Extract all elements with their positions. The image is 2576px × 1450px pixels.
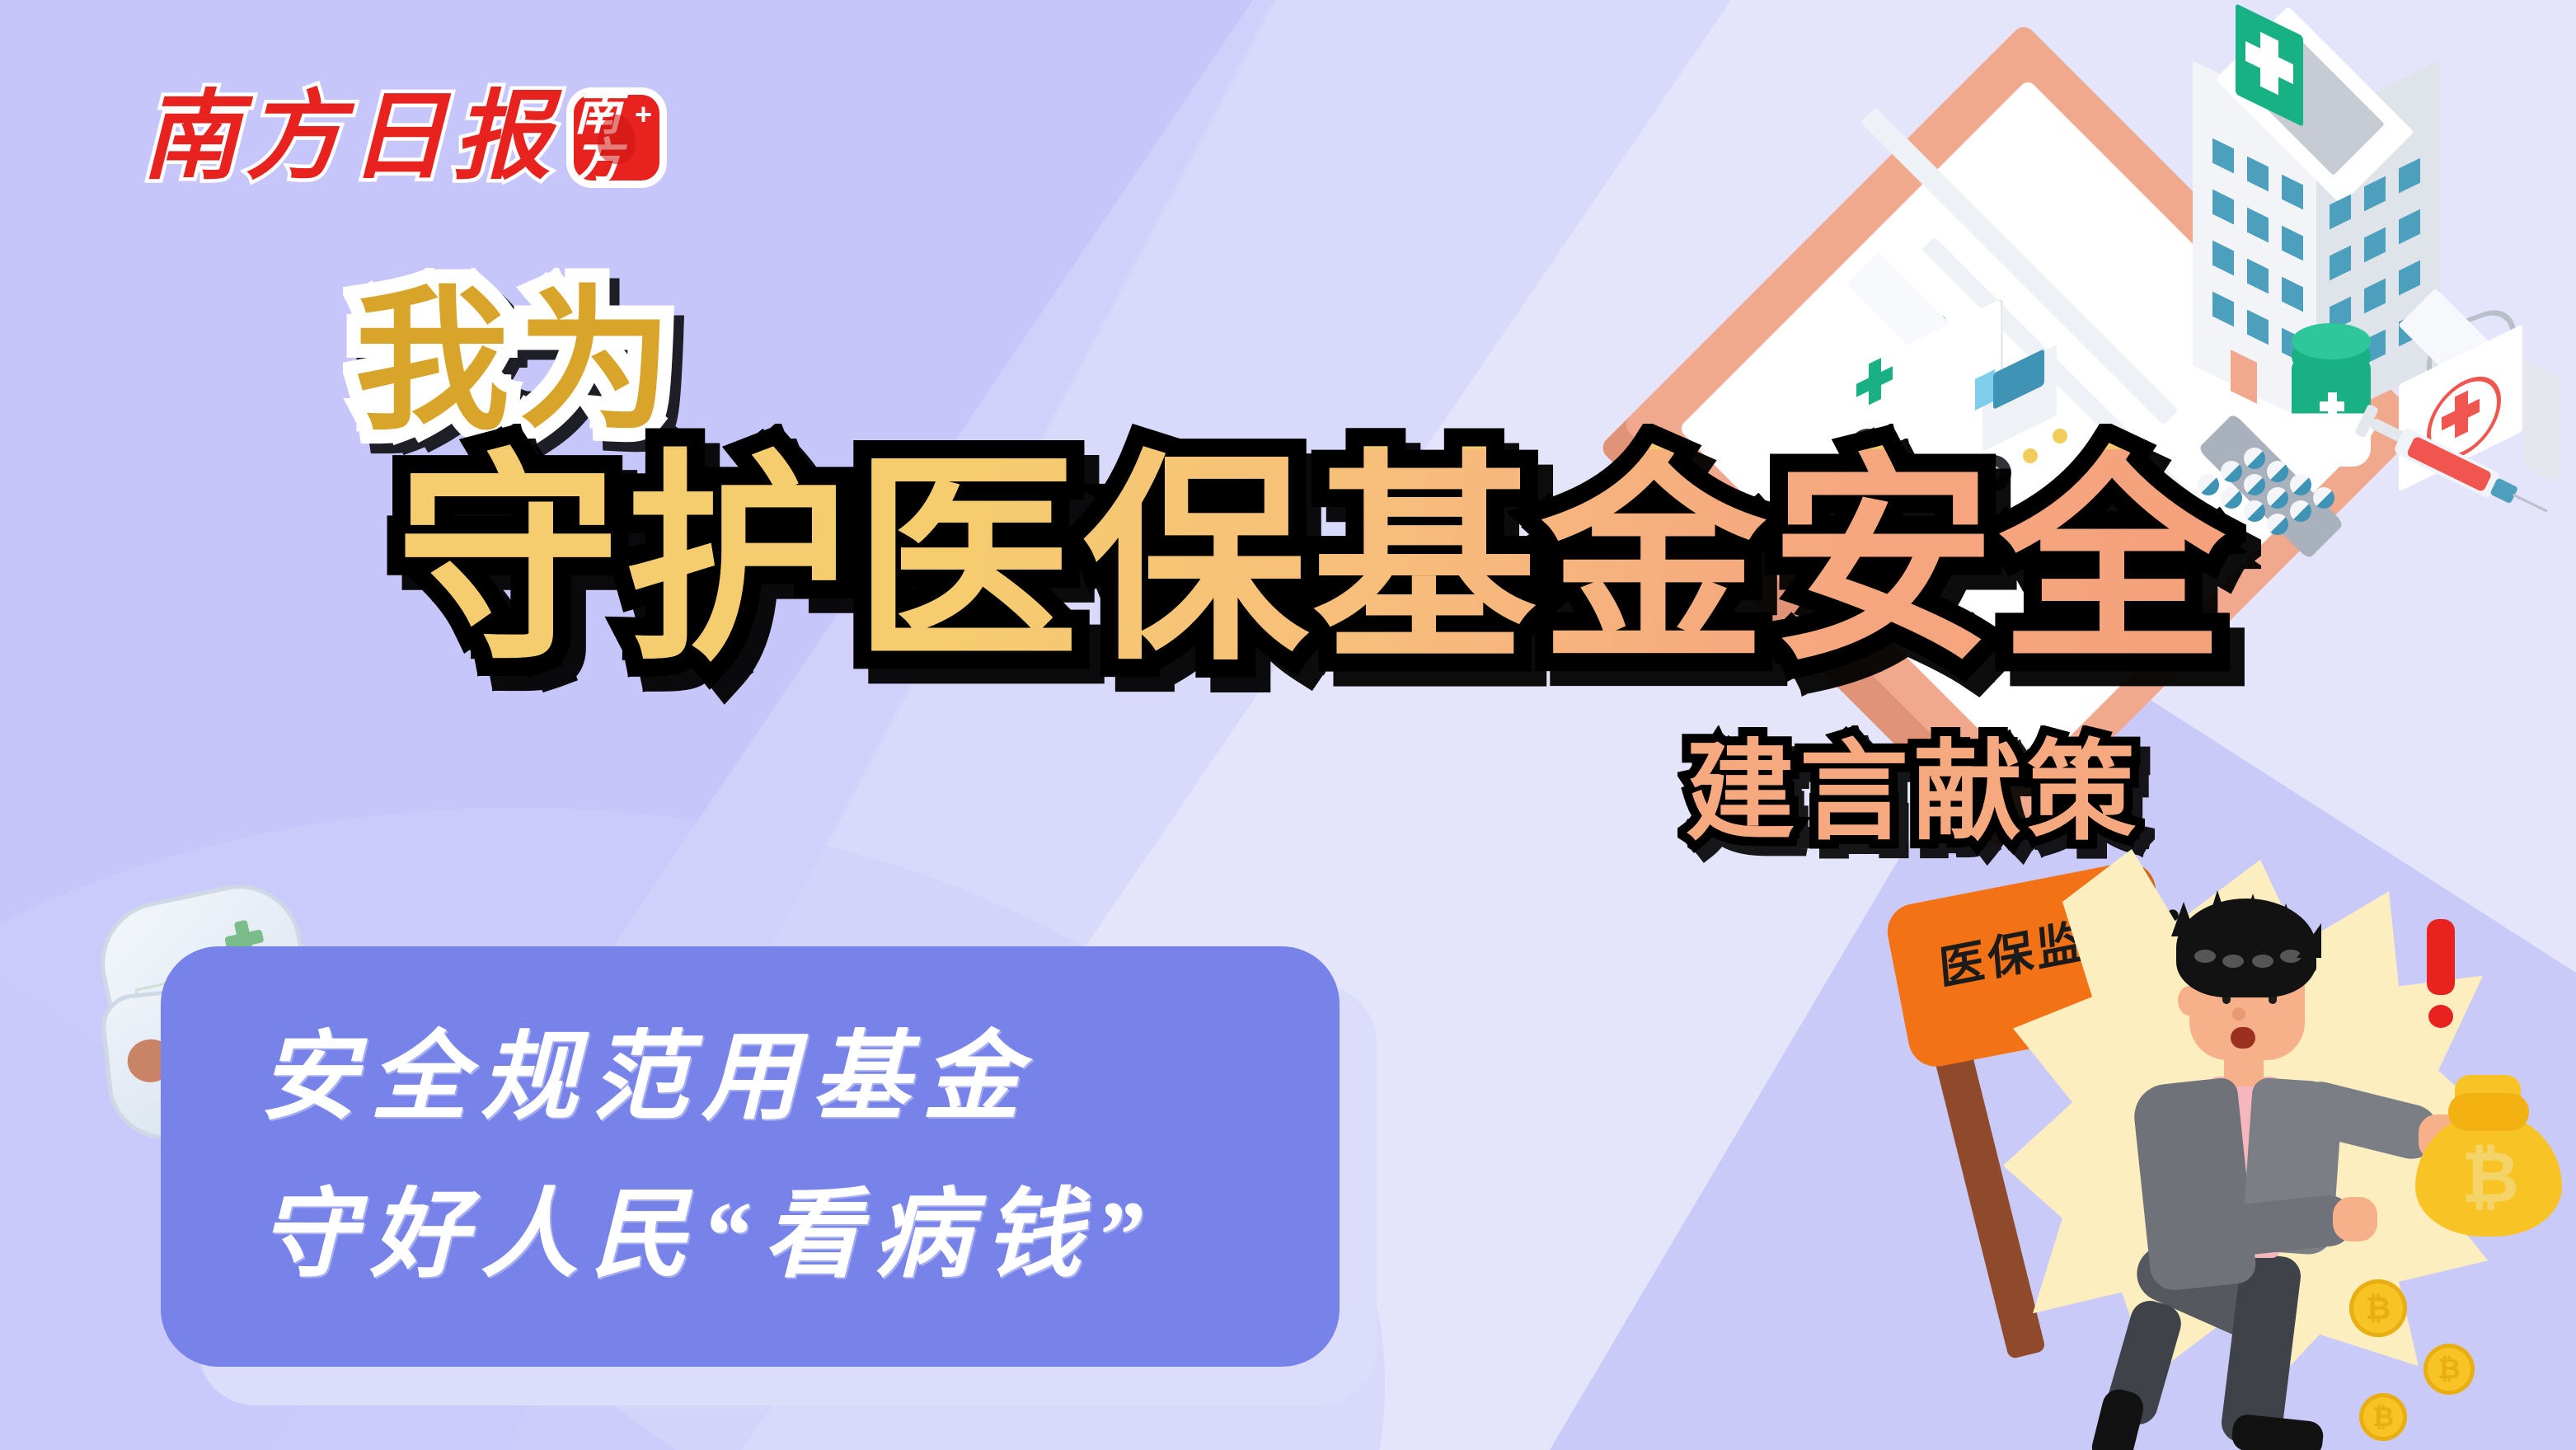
blister-pill: [2244, 500, 2265, 522]
brand-logo[interactable]: 南方日报 南方 +: [142, 89, 659, 186]
bottle-cross-icon: [2320, 392, 2344, 420]
slogan-line-2: 守好人民“看病钱”: [260, 1157, 1340, 1314]
money-bag-icon: ₿: [2407, 1072, 2572, 1245]
coin-icon: ₿: [2349, 1279, 2407, 1337]
blister-pill: [2267, 461, 2288, 482]
man-front-shoe: [2231, 1413, 2325, 1450]
money-bag-symbol: ₿: [2461, 1143, 2519, 1213]
blister-pill: [2290, 474, 2311, 495]
slogan-line-1: 安全规范用基金: [260, 999, 1340, 1157]
blister-pill: [2290, 500, 2311, 522]
man-hand: [2333, 1197, 2377, 1241]
blister-pill: [2244, 448, 2265, 469]
headline-kicker: 我为: [354, 284, 681, 439]
man-nose: [2232, 1007, 2245, 1021]
headline-subtitle: 建言献策: [1686, 738, 2141, 847]
man-jacket-left: [2131, 1077, 2257, 1293]
man-back-shoe: [2089, 1386, 2147, 1450]
headline-subtitle-wrap: 建言献策 建言献策: [1686, 738, 2141, 847]
nanfang-plus-app-icon[interactable]: 南方 +: [574, 95, 659, 181]
bottle-cap-top: [2292, 323, 2371, 359]
man-mouth: [2231, 1027, 2255, 1049]
headline-main-wrap: 守护医保基金安全 守护医保基金安全: [396, 449, 2229, 673]
slogan-banner: 安全规范用基金 守好人民“看病钱”: [161, 946, 1340, 1367]
blister-pill: [2313, 487, 2334, 509]
poster-canvas: 南方日报 南方 +: [0, 0, 2576, 1450]
blister-pill: [2267, 514, 2288, 535]
coin-icon: ₿: [2359, 1393, 2407, 1441]
plus-icon: +: [635, 100, 652, 129]
headline-main: 守护医保基金安全: [396, 449, 2229, 673]
brand-wordmark: 南方日报: [142, 89, 557, 186]
coin-icon: ₿: [2424, 1344, 2475, 1395]
blister-pill: [2244, 474, 2265, 495]
blister-pill: [2267, 487, 2288, 509]
syringe-needle: [2513, 494, 2548, 513]
money-bag-tie: [2448, 1093, 2529, 1131]
